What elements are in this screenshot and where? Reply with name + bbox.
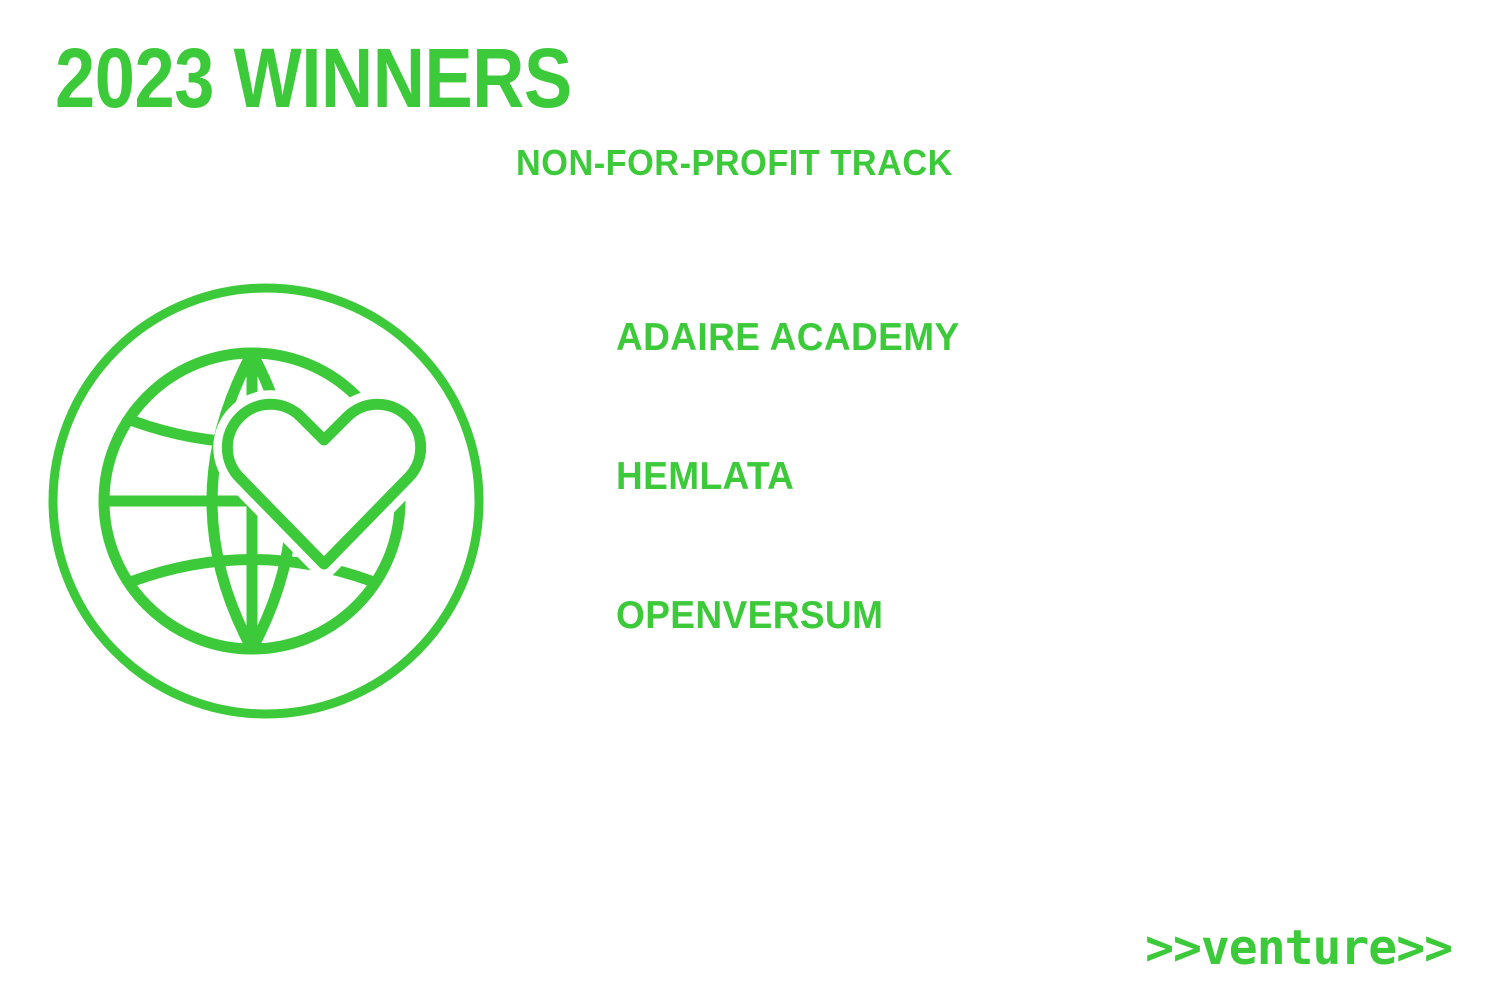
winners-slide: 2023 WINNERS NON-FOR-PROFIT TRACK <box>0 0 1500 1000</box>
page-title: 2023 WINNERS <box>55 36 572 120</box>
winner-item: HEMLATA <box>616 457 1281 496</box>
winners-list: ADAIRE ACADEMY HEMLATA OPENVERSUM <box>616 318 1316 635</box>
track-subtitle: NON-FOR-PROFIT TRACK <box>516 145 953 181</box>
globe-heart-icon-svg <box>44 276 488 726</box>
venture-logo: >>venture>> <box>1145 924 1452 972</box>
globe-heart-icon <box>44 276 488 726</box>
winner-item: ADAIRE ACADEMY <box>616 318 1281 357</box>
globe-group <box>104 353 400 649</box>
winner-item: OPENVERSUM <box>616 596 1281 635</box>
